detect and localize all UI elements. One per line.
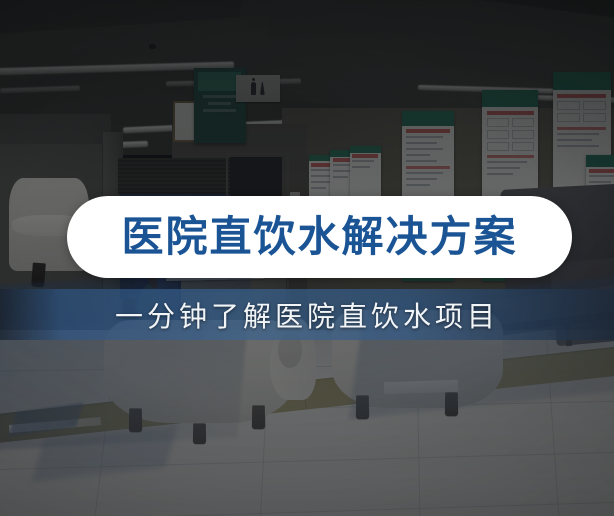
video-thumbnail-banner: 医院直饮水解决方案 一分钟了解医院直饮水项目 bbox=[0, 0, 614, 516]
subtitle-bar: 一分钟了解医院直饮水项目 bbox=[0, 289, 614, 340]
title-pill-container: 医院直饮水解决方案 bbox=[67, 196, 572, 278]
page-subtitle: 一分钟了解医院直饮水项目 bbox=[115, 295, 499, 335]
page-title: 医院直饮水解决方案 bbox=[121, 216, 517, 258]
